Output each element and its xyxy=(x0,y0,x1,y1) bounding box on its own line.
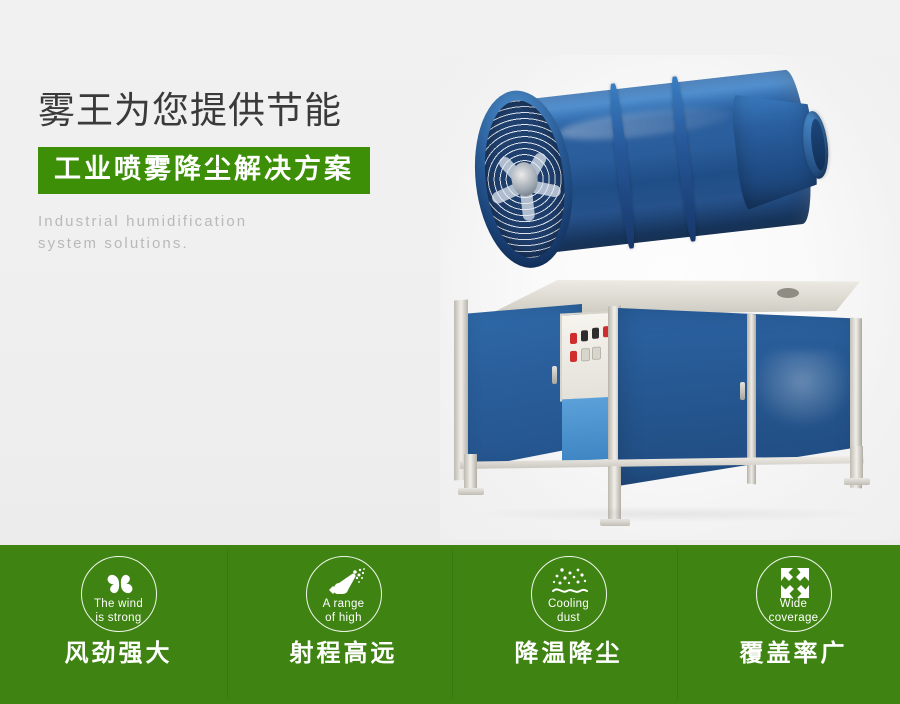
fog-cannon-barrel-assembly xyxy=(447,45,869,304)
feature-bar: The wind is strong 风劲强大 xyxy=(0,545,900,704)
control-knob xyxy=(570,333,577,344)
feature-circle-text-line-1: Wide xyxy=(757,597,831,611)
feature-circle-text: Wide coverage xyxy=(757,597,831,625)
control-knob xyxy=(592,346,601,359)
expand-arrows-icon xyxy=(773,564,815,598)
hero-section: 雾王为您提供节能 工业喷雾降尘解决方案 Industrial humidific… xyxy=(0,0,900,545)
cabinet-foot xyxy=(458,488,484,495)
feature-label: 风劲强大 xyxy=(6,642,231,666)
feature-circle-text-line-1: The wind xyxy=(82,597,156,611)
feature-item-range[interactable]: A range of high 射程高远 xyxy=(231,545,456,704)
feature-circle-text-line-2: is strong xyxy=(82,611,156,625)
feature-circle: Wide coverage xyxy=(756,556,832,632)
spray-cannon-icon xyxy=(323,564,365,598)
base-cabinet xyxy=(440,270,900,540)
feature-circle-text-line-2: dust xyxy=(532,611,606,625)
feature-item-cooling[interactable]: Cooling dust 降温降尘 xyxy=(456,545,681,704)
feature-circle: A range of high xyxy=(306,556,382,632)
english-subtitle-line-1: Industrial humidification xyxy=(38,211,458,233)
english-subtitle-line-2: system solutions. xyxy=(38,233,458,255)
english-subtitle: Industrial humidification system solutio… xyxy=(38,211,458,255)
feature-circle-text-line-1: A range xyxy=(307,597,381,611)
feature-circle: Cooling dust xyxy=(531,556,607,632)
solution-tagline-banner: 工业喷雾降尘解决方案 xyxy=(38,147,370,194)
feature-circle-text: The wind is strong xyxy=(82,597,156,625)
feature-circle-text: A range of high xyxy=(307,597,381,625)
feature-circle-text-line-2: of high xyxy=(307,611,381,625)
feature-item-coverage[interactable]: Wide coverage 覆盖率广 xyxy=(681,545,900,704)
product-photo xyxy=(440,55,900,540)
feature-label: 射程高远 xyxy=(231,642,456,666)
control-knob xyxy=(581,348,590,361)
feature-circle-text: Cooling dust xyxy=(532,597,606,625)
feature-circle: The wind is strong xyxy=(81,556,157,632)
feature-circle-text-line-2: coverage xyxy=(757,611,831,625)
fan-pinwheel-icon xyxy=(98,564,140,598)
product-shadow xyxy=(470,506,870,522)
control-knob xyxy=(570,351,577,362)
headline-block: 雾王为您提供节能 工业喷雾降尘解决方案 Industrial humidific… xyxy=(38,92,458,254)
feature-item-wind[interactable]: The wind is strong 风劲强大 xyxy=(6,545,231,704)
control-knob xyxy=(581,330,588,341)
feature-label: 覆盖率广 xyxy=(681,642,900,666)
cabinet-leg xyxy=(850,446,863,480)
page-title: 雾王为您提供节能 xyxy=(38,92,458,131)
control-knob xyxy=(592,328,599,339)
mist-droplets-icon xyxy=(548,564,590,598)
feature-label: 降温降尘 xyxy=(456,642,681,666)
feature-circle-text-line-1: Cooling xyxy=(532,597,606,611)
promo-banner: 雾王为您提供节能 工业喷雾降尘解决方案 Industrial humidific… xyxy=(0,0,900,704)
cabinet-door-handle xyxy=(740,382,745,400)
cabinet-leg xyxy=(464,454,477,490)
cabinet-top-port xyxy=(777,288,799,298)
cabinet-door-handle xyxy=(552,366,557,384)
cabinet-foot xyxy=(844,478,870,485)
